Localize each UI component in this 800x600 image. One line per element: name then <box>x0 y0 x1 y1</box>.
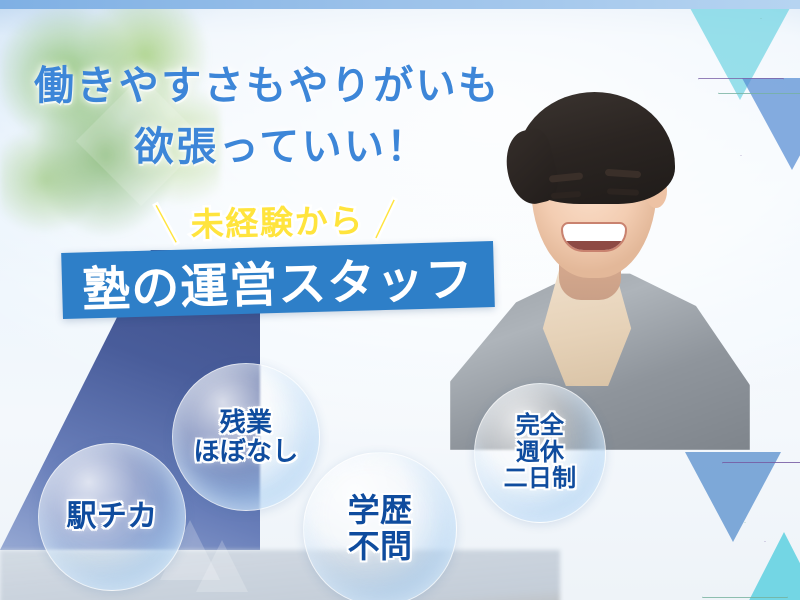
recruitment-banner: 働きやすさもやりがいも 欲張っていい！ ＼未経験から／ 塾の運営スタッフ 駅チカ… <box>0 0 800 600</box>
white-arrow-accent-icon-2 <box>196 540 248 592</box>
badge-shukyu-line-2: 週休 <box>504 440 577 467</box>
headline-line-1: 働きやすさもやりがいも <box>34 64 500 108</box>
badge-zangyo[interactable]: 残業 ほぼなし <box>172 363 320 511</box>
badge-eki-line-1: 駅チカ <box>67 500 158 534</box>
badge-shukyu-line-3: 二日制 <box>504 466 577 493</box>
badge-shukyu-line-1: 完全 <box>504 413 577 440</box>
kicker-label: ＼未経験から／ <box>149 193 403 247</box>
badge-zangyo-line-2: ほぼなし <box>193 437 298 466</box>
badge-zangyo-line-1: 残業 <box>193 408 298 437</box>
badge-gakureki-fumon[interactable]: 学歴 不問 <box>303 452 457 600</box>
man-smiling-mouth <box>561 222 627 252</box>
top-blue-band <box>0 0 800 9</box>
badge-gakureki-text: 学歴 不問 <box>348 493 413 565</box>
badge-gakureki-line-2: 不問 <box>348 529 413 565</box>
headline-line-2: 欲張っていい！ <box>34 117 574 178</box>
kicker-text: 未経験から <box>190 202 364 243</box>
job-title-band: 塾の運営スタッフ <box>61 241 495 319</box>
badge-kanzen-shukyu-futsukasei[interactable]: 完全 週休 二日制 <box>474 383 606 523</box>
badge-gakureki-line-1: 学歴 <box>348 493 413 529</box>
badge-shukyu-text: 完全 週休 二日制 <box>504 413 577 494</box>
badge-zangyo-text: 残業 ほぼなし <box>193 408 298 466</box>
headline: 働きやすさもやりがいも 欲張っていい！ <box>34 56 574 178</box>
badge-ekichika[interactable]: 駅チカ <box>38 443 186 591</box>
job-title: 塾の運営スタッフ <box>61 241 495 319</box>
badge-eki-text: 駅チカ <box>67 500 158 534</box>
slash-left-icon: ＼ <box>144 195 191 251</box>
